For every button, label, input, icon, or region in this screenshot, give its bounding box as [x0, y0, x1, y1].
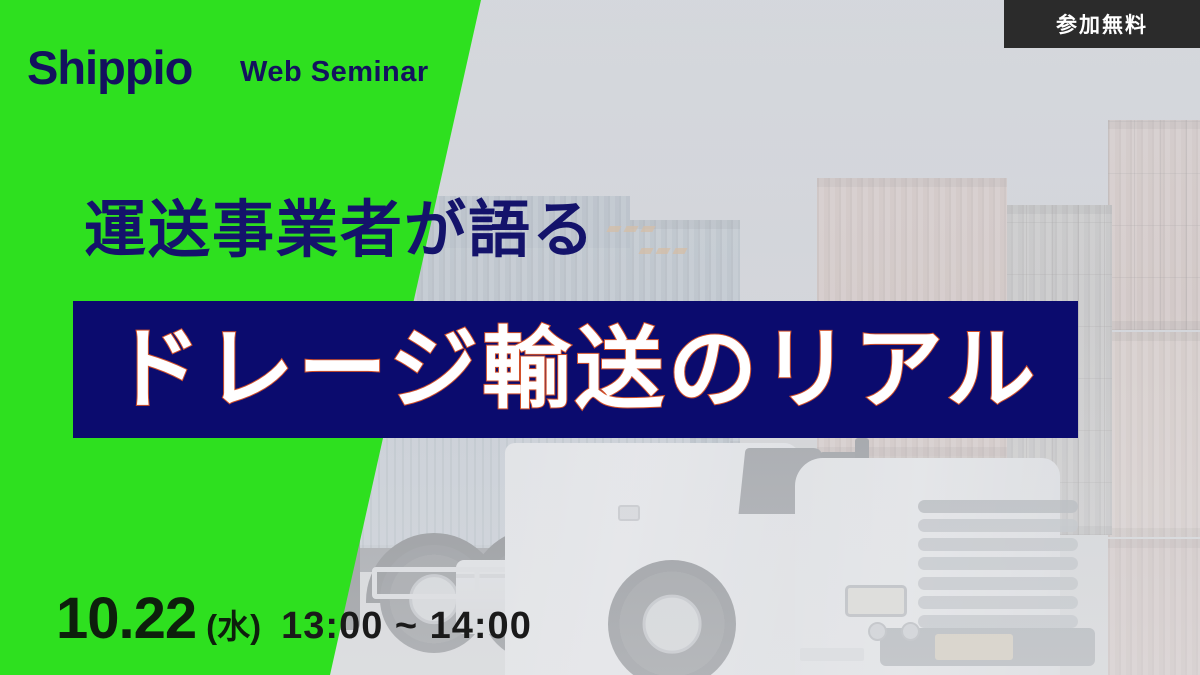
- main-title: ドレージ輸送のリアル: [112, 325, 1039, 414]
- seminar-banner: 参加無料 Shippio Web Seminar 運送事業者が語る ドレージ輸送…: [0, 0, 1200, 675]
- schedule-day-of-week: (水): [206, 600, 261, 648]
- schedule-date: 10.22: [56, 585, 196, 652]
- web-seminar-label: Web Seminar: [240, 56, 429, 89]
- headline-kicker: 運送事業者が語る: [84, 197, 596, 265]
- title-banner: ドレージ輸送のリアル: [73, 301, 1078, 438]
- schedule-row: 10.22 (水) 13:00 ~ 14:00: [56, 585, 532, 652]
- free-admission-label: 参加無料: [1056, 9, 1148, 39]
- shippio-logo: Shippio: [27, 44, 192, 91]
- free-admission-badge: 参加無料: [1004, 0, 1200, 48]
- schedule-time: 13:00 ~ 14:00: [281, 605, 532, 648]
